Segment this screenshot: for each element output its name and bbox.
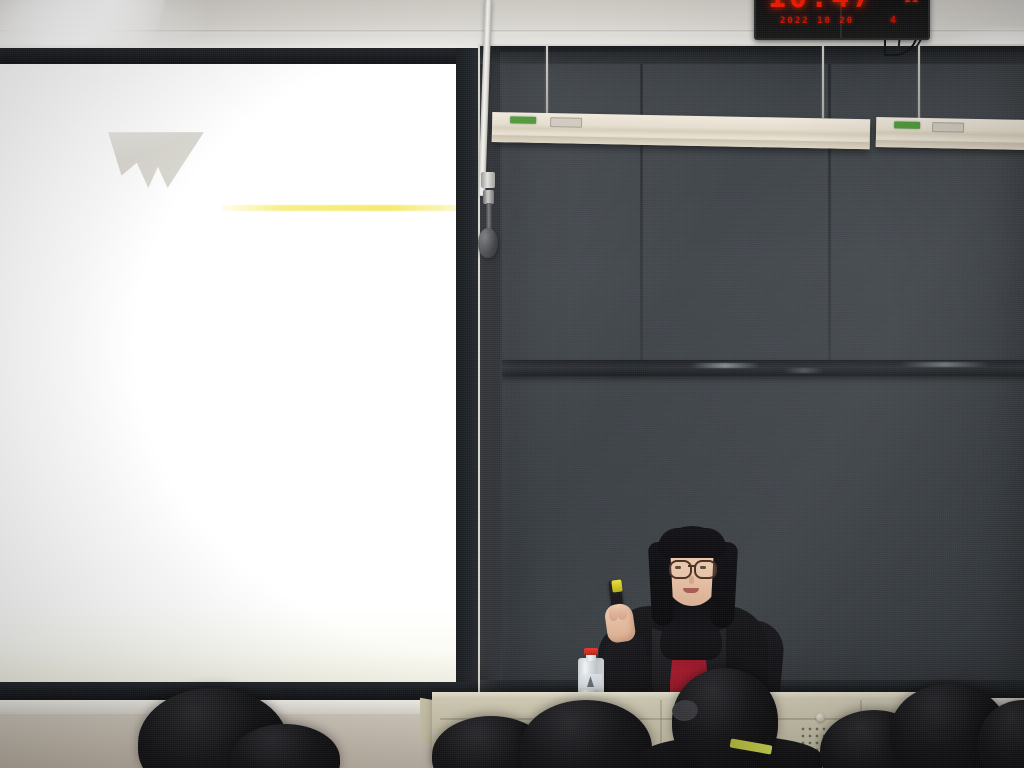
microphone-joint [483, 190, 494, 204]
presenter-finger [618, 605, 627, 620]
fixture-hanger-cable [822, 46, 824, 118]
microphone-stem [486, 203, 492, 231]
presenter-remote-button [611, 579, 622, 592]
fixture-hanger-cable [546, 46, 548, 116]
fixture-hanger-cable [918, 46, 920, 120]
fixture-tag [550, 117, 582, 128]
glasses-bridge [688, 565, 695, 567]
chalk-smudge [784, 368, 824, 373]
presenter-bangs [658, 528, 726, 558]
presenter-mouth [683, 588, 699, 593]
clock-date: 2022 10 20 [780, 16, 854, 26]
clock-weekday: 4 [890, 15, 899, 26]
led-wall-clock: 10:47 11 2022 10 20 4 [754, 0, 930, 40]
microphone-clamp [481, 172, 495, 188]
bottle-cap [584, 648, 598, 655]
chalk-smudge [900, 362, 990, 367]
screen-shadow-artifact [108, 132, 204, 188]
suspended-light-fixture [876, 117, 1024, 150]
screen-accent-line [222, 205, 462, 211]
fixture-green-label [510, 116, 536, 123]
clock-time: 10:47 [768, 0, 873, 15]
presenter-nose [689, 576, 694, 584]
chalk-smudge [690, 363, 760, 368]
lectern-knob[interactable] [816, 713, 825, 722]
projection-screen [0, 62, 468, 684]
screen-top-bar [0, 48, 478, 64]
screen-right-bar [456, 48, 478, 716]
fixture-green-label [894, 121, 920, 128]
blackboard-seam [828, 64, 831, 360]
blackboard-seam [640, 64, 643, 360]
glasses-icon [694, 560, 717, 579]
lecture-hall-photo: 10:47 11 2022 10 20 4 [0, 0, 1024, 768]
presenter-finger [609, 606, 618, 621]
blackboard-top-edge [480, 46, 1024, 64]
clock-seconds: 11 [904, 0, 919, 5]
microphone-icon [478, 228, 498, 258]
fluorescent-strip-light [0, 0, 166, 46]
fixture-tag [932, 122, 964, 133]
